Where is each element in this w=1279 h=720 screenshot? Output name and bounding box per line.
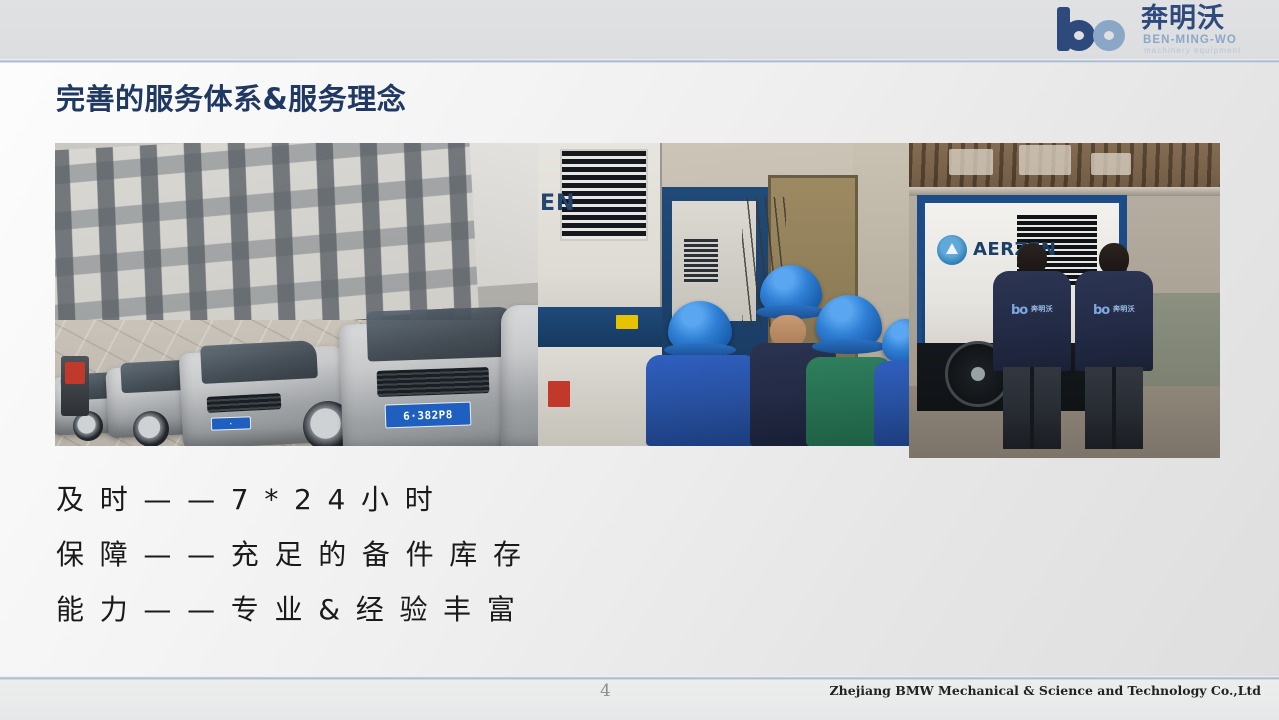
uniform-logo-chinese: 奔明沃 [1113, 304, 1135, 314]
technician-left-jacket [993, 271, 1071, 371]
page-number: 4 [600, 681, 611, 701]
technician-right: bo 奔明沃 [1075, 243, 1153, 448]
technician-left: bo 奔明沃 [993, 243, 1071, 448]
bullet-line-timeliness: 及 时 — — 7 * 2 4 小 时 [56, 472, 524, 527]
technician-left-uniform-logo: bo 奔明沃 [1011, 301, 1055, 317]
workers-machine-warning-label [616, 315, 638, 329]
aerzen-roof-patch-2 [1019, 145, 1071, 175]
car-front-grill [377, 367, 490, 397]
aerzen-roof-patch-3 [1091, 153, 1131, 175]
worker-d-torso [874, 361, 909, 446]
car-mid-license-plate: · [211, 416, 251, 430]
uniform-logo-chinese: 奔明沃 [1031, 304, 1053, 314]
technician-right-uniform-logo: bo 奔明沃 [1093, 301, 1137, 317]
bullet-list: 及 时 — — 7 * 2 4 小 时 保 障 — — 充 足 的 备 件 库 … [56, 472, 524, 637]
aerzen-fan-hub [971, 367, 985, 381]
parking-kiosk-screen [65, 362, 85, 384]
photo-technicians-aerzen-unit: AERZEN bo 奔明沃 bo 奔明沃 [909, 143, 1220, 458]
technician-right-jacket [1075, 271, 1153, 371]
photo-workers-blue-helmets: EN [538, 143, 909, 446]
workers-machine-red-label [548, 381, 570, 407]
uniform-logo-mark: bo [1093, 303, 1109, 318]
workers-machine-brand-text: EN [540, 191, 575, 216]
car-mid-glass [200, 340, 318, 384]
car-front-license-plate: 6·382P8 [385, 402, 472, 429]
aerzen-brand-icon-triangle [946, 243, 958, 254]
bullet-line-guarantee: 保 障 — — 充 足 的 备 件 库 存 [56, 527, 524, 582]
technician-right-legs [1085, 367, 1143, 449]
parking-kiosk [61, 356, 89, 416]
slide-canvas: 奔明沃 BEN-MING-WO machinery equipment 完善的服… [0, 0, 1279, 720]
aerzen-roof-patch-1 [949, 149, 993, 175]
uniform-logo-mark: bo [1011, 303, 1027, 318]
workers-machine-base-band [538, 307, 662, 347]
car-far-2-wheel [133, 411, 169, 446]
car-front-glass [366, 306, 516, 361]
car-edge-partial [501, 305, 538, 446]
photo-parked-service-cars: · 6·382P8 [55, 143, 538, 446]
worker-c-helmet-brim [812, 339, 886, 354]
workers-cabinet-vent [684, 239, 718, 283]
technician-left-legs [1003, 367, 1061, 449]
bullet-line-capability: 能 力 — — 专 业 & 经 验 丰 富 [56, 582, 524, 637]
footer-company-name: Zhejiang BMW Mechanical & Science and Te… [830, 683, 1261, 698]
worker-a-torso [646, 355, 758, 446]
